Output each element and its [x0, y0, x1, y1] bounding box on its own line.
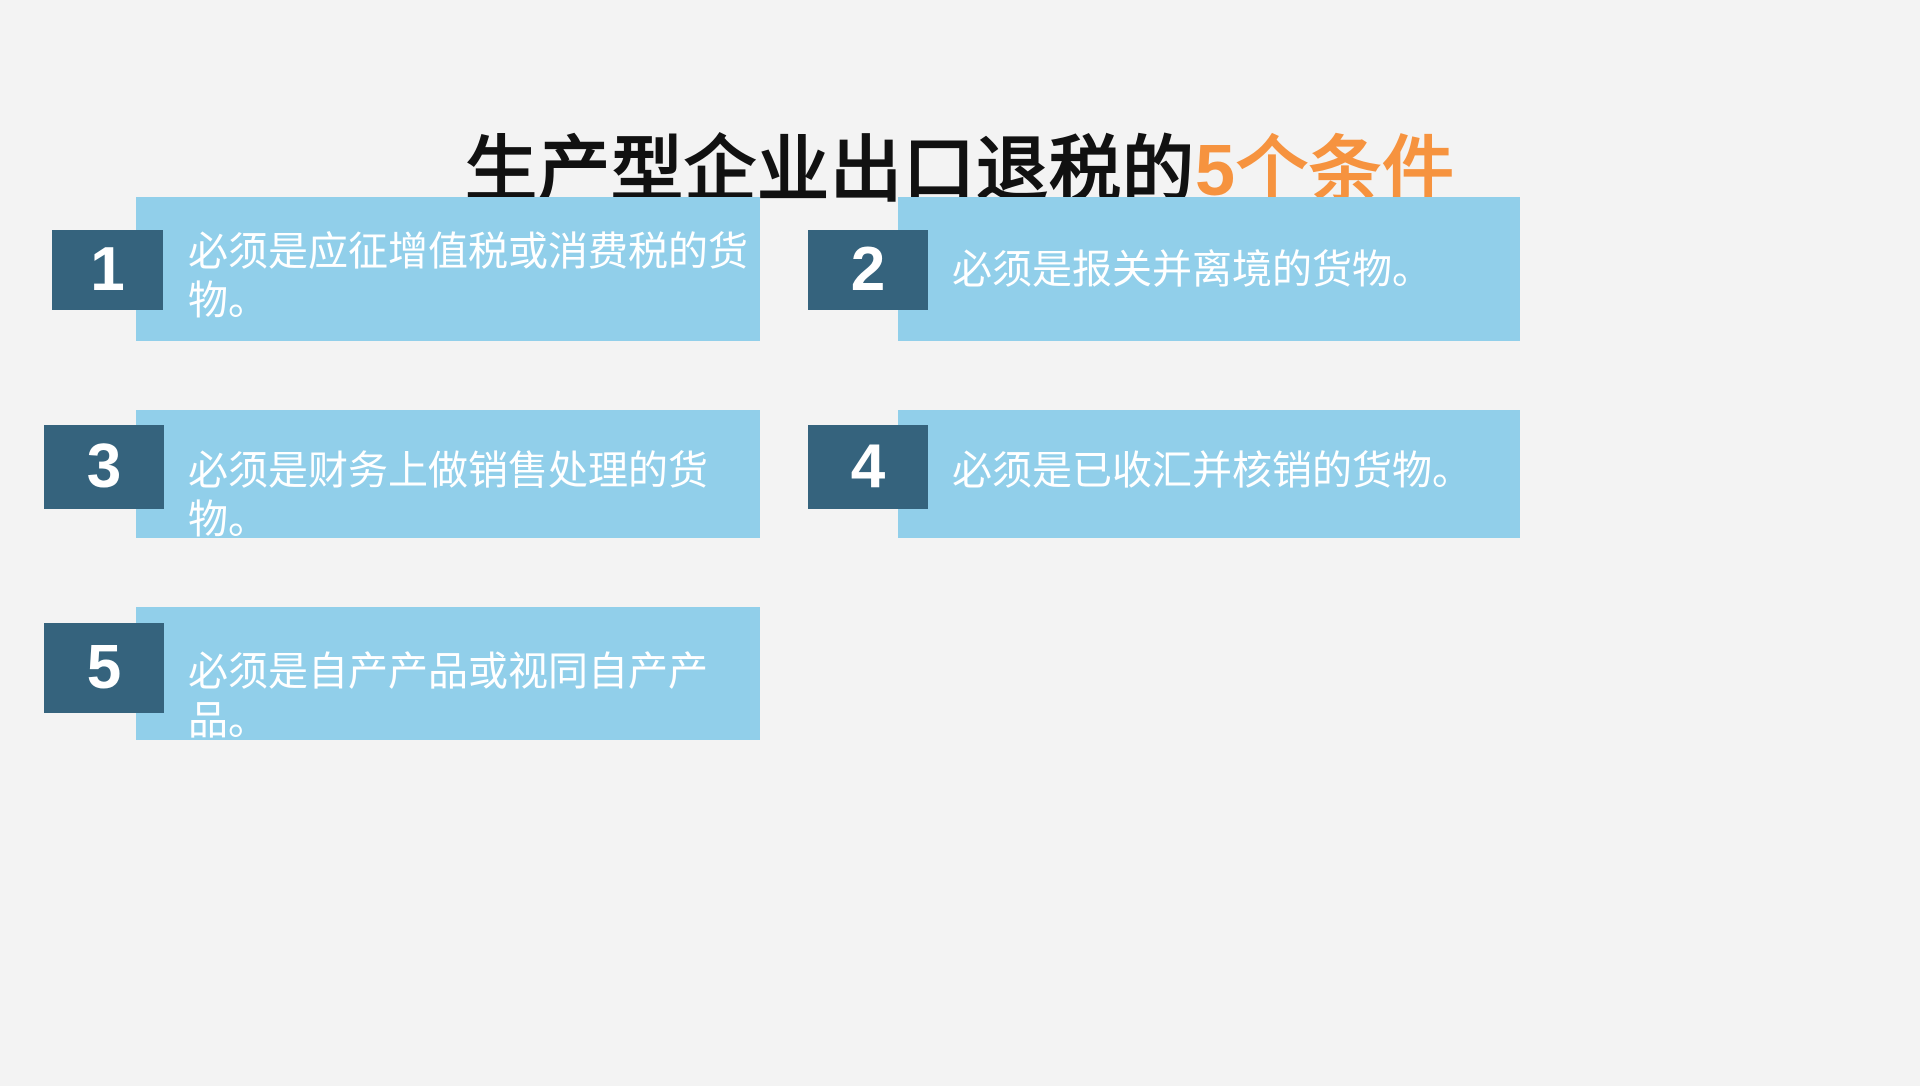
condition-card-4-text: 必须是已收汇并核销的货物。 [952, 447, 1532, 496]
condition-card-2-number-badge: 2 [808, 230, 928, 310]
condition-card-3-text: 必须是财务上做销售处理的货物。 [188, 447, 768, 545]
condition-card-4-number-badge: 4 [808, 425, 928, 509]
condition-card-2-text: 必须是报关并离境的货物。 [952, 246, 1512, 295]
condition-card-5-number-badge: 5 [44, 623, 164, 713]
slide-canvas: 生产型企业出口退税的5个条件 1 必须是应征增值税或消费税的货物。 2 必须是报… [0, 0, 1920, 1086]
condition-card-5-text: 必须是自产产品或视同自产产品。 [188, 648, 768, 746]
condition-card-3-number-badge: 3 [44, 425, 164, 509]
condition-card-1-number-badge: 1 [52, 230, 163, 310]
condition-card-1-text: 必须是应征增值税或消费税的货物。 [188, 228, 748, 326]
